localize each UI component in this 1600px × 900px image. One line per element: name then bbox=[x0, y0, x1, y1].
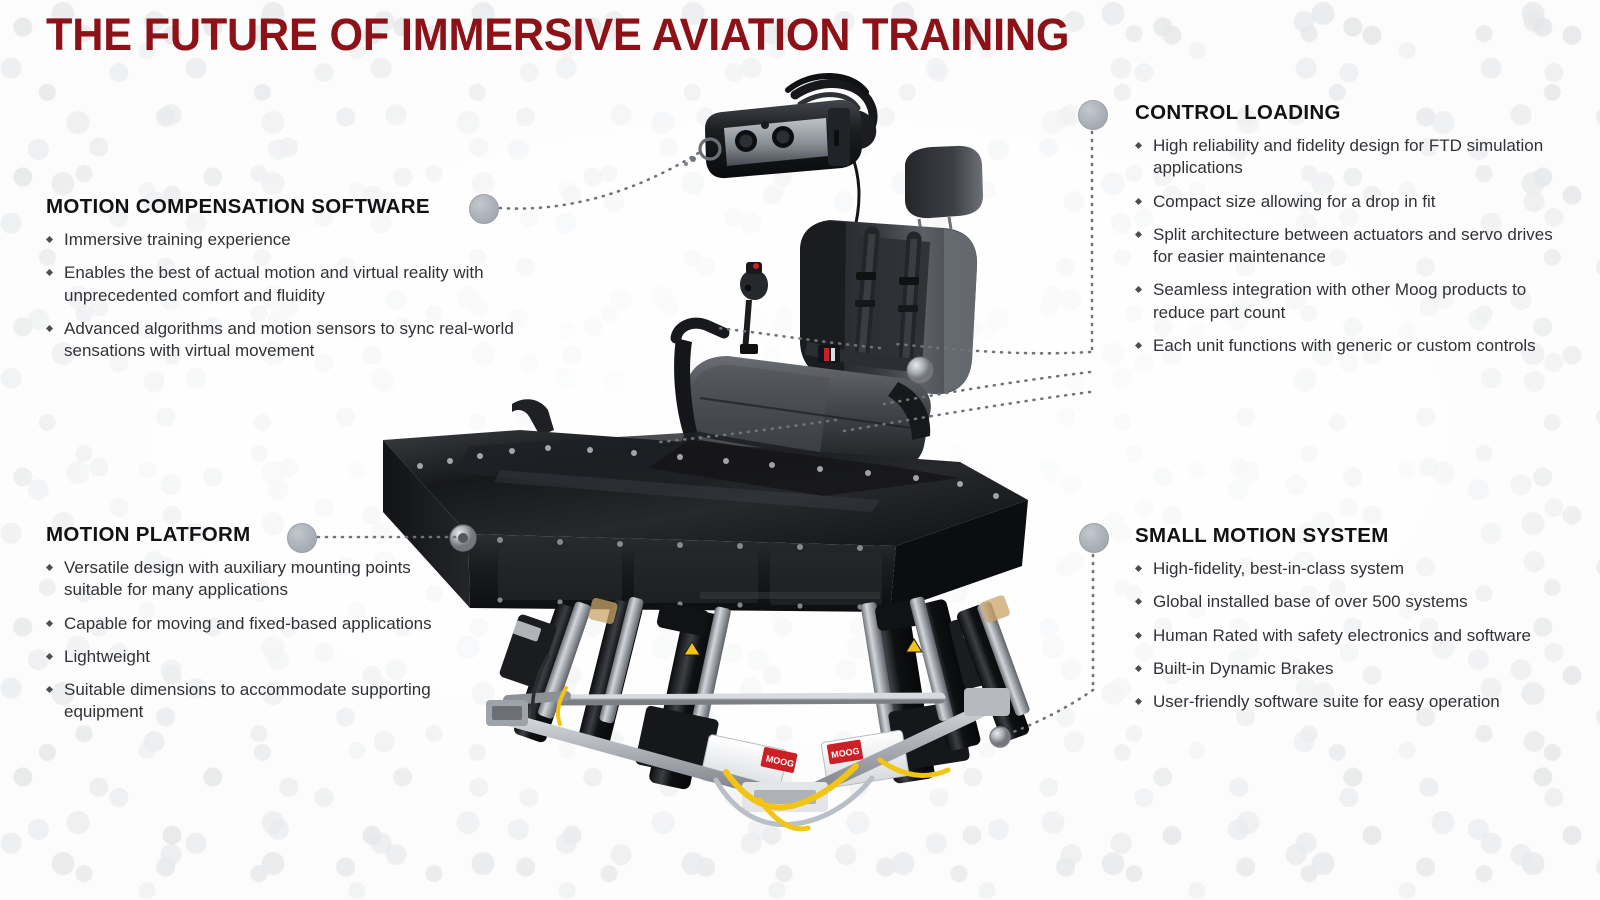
leader-control-loading-c bbox=[838, 392, 1090, 432]
infographic-canvas: MOOG MOOG bbox=[0, 0, 1600, 900]
leader-control-loading-b bbox=[884, 372, 1090, 404]
leader-lines bbox=[0, 0, 1600, 900]
leader-control-loading-e bbox=[660, 420, 836, 442]
leader-control-loading-a bbox=[896, 344, 1090, 353]
leader-motion-compensation bbox=[500, 152, 700, 209]
leader-endpoint-small-motion bbox=[990, 727, 1010, 747]
leader-control-loading-d bbox=[718, 328, 880, 348]
leader-small-motion-arm bbox=[1008, 690, 1093, 734]
